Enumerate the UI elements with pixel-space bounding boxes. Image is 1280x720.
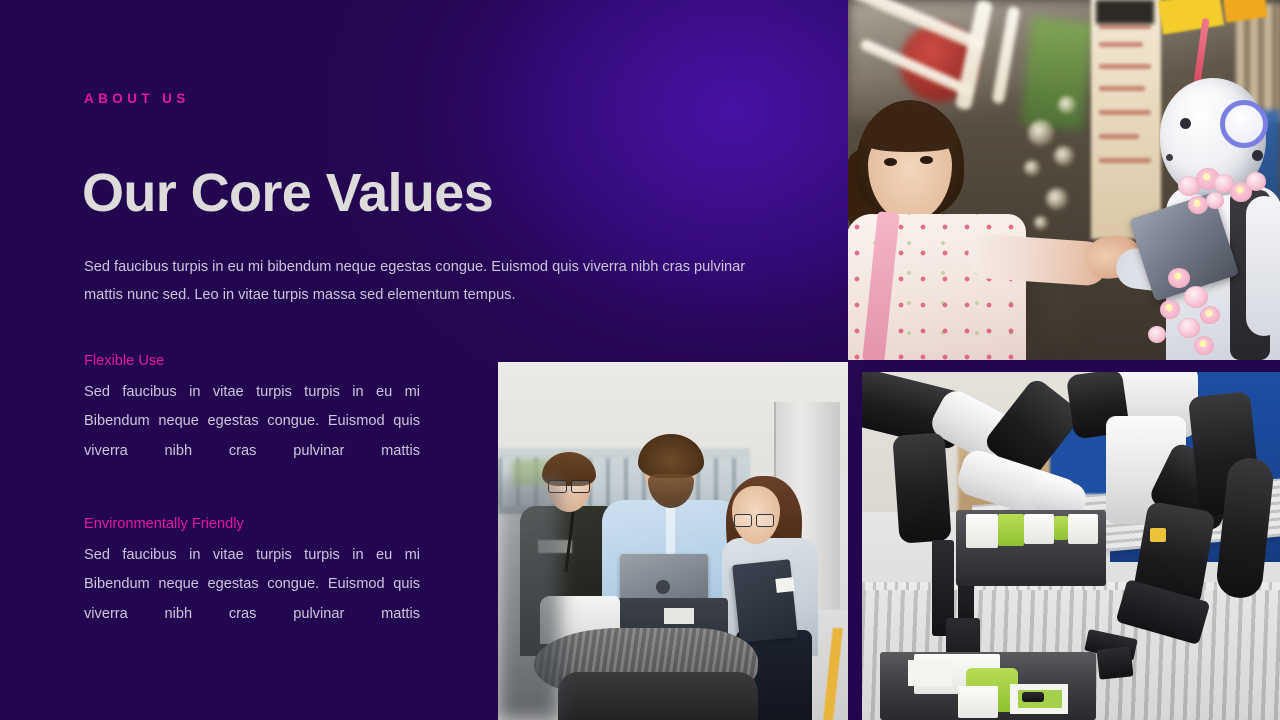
photo-content	[498, 362, 848, 720]
feature-block-flexible-use: Flexible Use Sed faucibus in vitae turpi…	[84, 352, 420, 496]
feature-block-environmentally-friendly: Environmentally Friendly Sed faucibus in…	[84, 515, 420, 659]
photo-industrial-robot-arms	[862, 372, 1280, 720]
intro-paragraph: Sed faucibus turpis in eu mi bibendum ne…	[84, 253, 774, 310]
feature-body: Sed faucibus in vitae turpis turpis in e…	[84, 378, 420, 496]
slide-root: ABOUT US Our Core Values Sed faucibus tu…	[0, 0, 1280, 720]
photo-child-and-pepper-robot	[848, 0, 1280, 360]
photo-engineers-reviewing-laptop	[498, 362, 848, 720]
photo-content	[862, 372, 1280, 720]
section-eyebrow: ABOUT US	[84, 92, 190, 106]
feature-title: Environmentally Friendly	[84, 515, 420, 534]
feature-body: Sed faucibus in vitae turpis turpis in e…	[84, 541, 420, 659]
page-title: Our Core Values	[82, 162, 493, 226]
photo-content	[848, 0, 1280, 360]
feature-title: Flexible Use	[84, 352, 420, 371]
